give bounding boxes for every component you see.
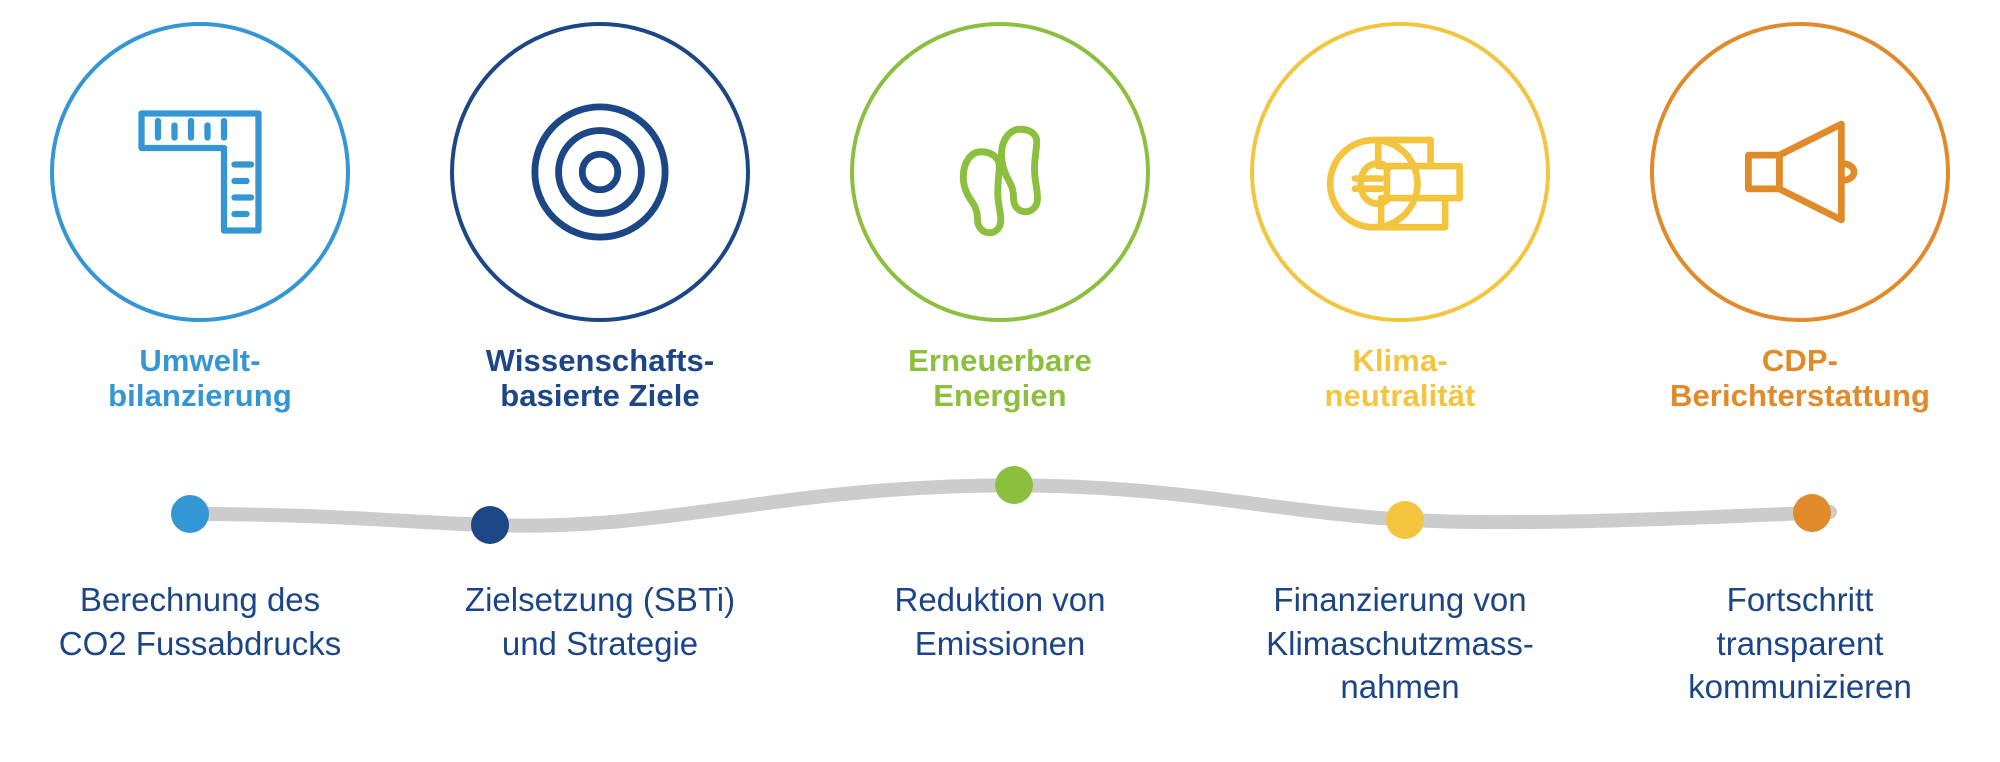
sustainability-roadmap-infographic: Umwelt- bilanzierung Wissenschafts- basi…: [0, 0, 2000, 762]
step-5-icon-circle: [1650, 22, 1950, 322]
steps-row: Umwelt- bilanzierung Wissenschafts- basi…: [0, 0, 2000, 470]
footprints-icon: [925, 97, 1075, 247]
step-2-icon-circle: [450, 22, 750, 322]
timeline-dot-3: [995, 466, 1033, 504]
step-4-title: Klima- neutralität: [1325, 344, 1476, 413]
step-3-title: Erneuerbare Energien: [908, 344, 1092, 413]
step-1-title: Umwelt- bilanzierung: [108, 344, 292, 413]
step-5-title: CDP- Berichterstattung: [1670, 344, 1930, 413]
timeline-dot-5: [1793, 494, 1831, 532]
timeline-dot-2: [471, 506, 509, 544]
ruler-square-icon: [125, 97, 275, 247]
step-5: CDP- Berichterstattung: [1600, 0, 2000, 413]
step-3-icon-circle: [850, 22, 1150, 322]
step-2-title: Wissenschafts- basierte Ziele: [486, 344, 715, 413]
step-4-icon-circle: [1250, 22, 1550, 322]
step-1-description: Berechnung des CO2 Fussabdrucks: [0, 578, 400, 665]
step-4: Klima- neutralität: [1200, 0, 1600, 413]
step-5-description: Fortschritt transparent kommunizieren: [1600, 578, 2000, 709]
megaphone-icon: [1723, 97, 1878, 247]
timeline-dot-1: [171, 495, 209, 533]
step-2: Wissenschafts- basierte Ziele: [400, 0, 800, 413]
timeline-dot-4: [1386, 501, 1424, 539]
step-1-icon-circle: [50, 22, 350, 322]
step-2-description: Zielsetzung (SBTi) und Strategie: [400, 578, 800, 665]
progress-timeline: [0, 452, 2000, 562]
step-3-description: Reduktion von Emissionen: [800, 578, 1200, 665]
step-1: Umwelt- bilanzierung: [0, 0, 400, 413]
target-bullseye-icon: [526, 98, 674, 246]
euro-coins-icon: [1320, 97, 1480, 247]
step-3: Erneuerbare Energien: [800, 0, 1200, 413]
descriptions-row: Berechnung des CO2 Fussabdrucks Zielsetz…: [0, 578, 2000, 709]
step-4-description: Finanzierung von Klimaschutzmass- nahmen: [1200, 578, 1600, 709]
